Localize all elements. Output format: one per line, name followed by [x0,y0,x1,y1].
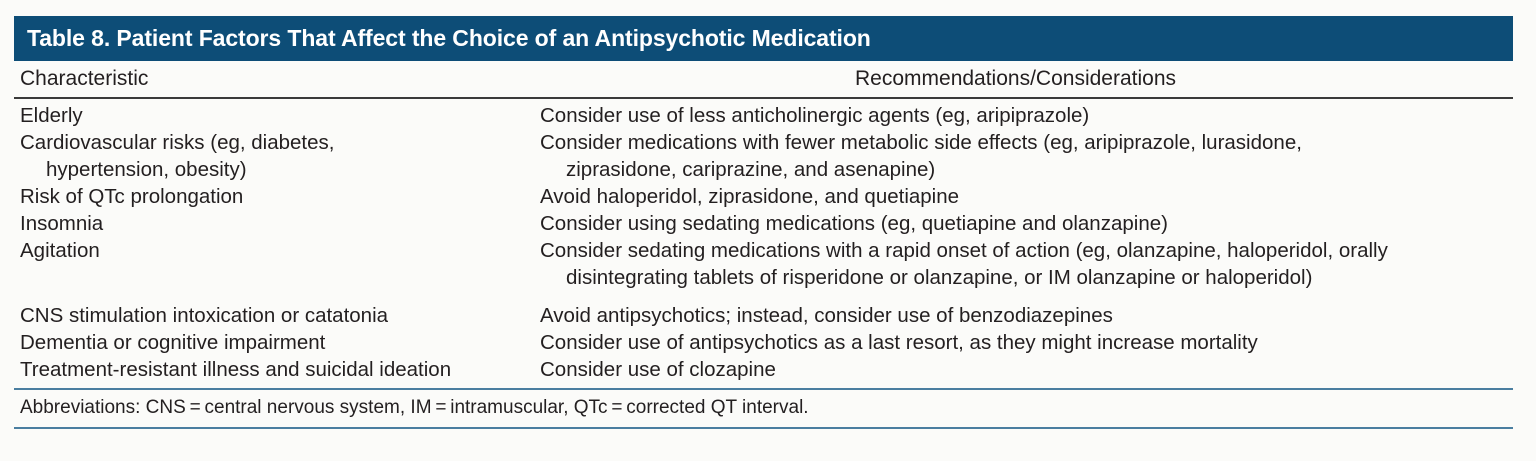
cell-recommendation: Avoid antipsychotics; instead, consider … [540,302,1513,329]
cell-characteristic: Risk of QTc prolongation [14,183,540,210]
cell-recommendation: Consider use of less anticholinergic age… [540,102,1513,129]
cell-characteristic: Insomnia [14,210,540,237]
recommendation-line: Avoid antipsychotics; instead, consider … [540,302,1511,329]
column-header-row: Characteristic Recommendations/Considera… [14,61,1513,99]
table-row: Risk of QTc prolongation Avoid haloperid… [14,183,1513,210]
recommendation-line: Consider use of antipsychotics as a last… [540,329,1511,356]
cell-characteristic: Treatment-resistant illness and suicidal… [14,356,540,383]
cell-recommendation: Consider use of antipsychotics as a last… [540,329,1513,356]
recommendation-line: Avoid haloperidol, ziprasidone, and quet… [540,183,1511,210]
characteristic-line: Insomnia [20,210,540,237]
cell-characteristic: CNS stimulation intoxication or catatoni… [14,302,540,329]
cell-characteristic: Elderly [14,102,540,129]
recommendation-line: Consider sedating medications with a rap… [540,237,1511,264]
table-row: Insomnia Consider using sedating medicat… [14,210,1513,237]
recommendation-line-continued: ziprasidone, cariprazine, and asenapine) [540,156,1511,183]
table-row: Cardiovascular risks (eg, diabetes, hype… [14,129,1513,183]
column-header-characteristic: Characteristic [20,67,148,91]
table-row: Elderly Consider use of less anticholine… [14,102,1513,129]
cell-characteristic: Cardiovascular risks (eg, diabetes, hype… [14,129,540,183]
characteristic-line: Risk of QTc prolongation [20,183,540,210]
column-header-recommendations: Recommendations/Considerations [855,67,1176,91]
characteristic-line: Cardiovascular risks (eg, diabetes, [20,129,540,156]
recommendation-line: Consider use of less anticholinergic age… [540,102,1511,129]
cell-characteristic: Dementia or cognitive impairment [14,329,540,356]
table-row: CNS stimulation intoxication or catatoni… [14,302,1513,329]
recommendation-line: Consider medications with fewer metaboli… [540,129,1511,156]
table-footnote: Abbreviations: CNS = central nervous sys… [14,390,1513,427]
characteristic-line: Dementia or cognitive impairment [20,329,540,356]
table-title-band: Table 8. Patient Factors That Affect the… [14,16,1513,61]
cell-recommendation: Consider using sedating medications (eg,… [540,210,1513,237]
characteristic-line: Elderly [20,102,540,129]
footnote-rule-bottom [14,427,1513,429]
cell-recommendation: Avoid haloperidol, ziprasidone, and quet… [540,183,1513,210]
cell-recommendation: Consider sedating medications with a rap… [540,237,1513,291]
table-row: Dementia or cognitive impairment Conside… [14,329,1513,356]
recommendation-line: Consider use of clozapine [540,356,1511,383]
characteristic-line: CNS stimulation intoxication or catatoni… [20,302,540,329]
characteristic-line-continued: hypertension, obesity) [20,156,540,183]
characteristic-line: Agitation [20,237,540,264]
table-title: Table 8. Patient Factors That Affect the… [27,25,871,52]
table-body: Elderly Consider use of less anticholine… [14,99,1513,383]
cell-recommendation: Consider use of clozapine [540,356,1513,383]
cell-characteristic: Agitation [14,237,540,264]
cell-recommendation: Consider medications with fewer metaboli… [540,129,1513,183]
table-row: Agitation Consider sedating medications … [14,237,1513,291]
recommendation-line: Consider using sedating medications (eg,… [540,210,1511,237]
table-8: Table 8. Patient Factors That Affect the… [14,16,1513,429]
characteristic-line: Treatment-resistant illness and suicidal… [20,356,540,383]
table-row: Treatment-resistant illness and suicidal… [14,356,1513,383]
recommendation-line-continued: disintegrating tablets of risperidone or… [540,264,1511,291]
